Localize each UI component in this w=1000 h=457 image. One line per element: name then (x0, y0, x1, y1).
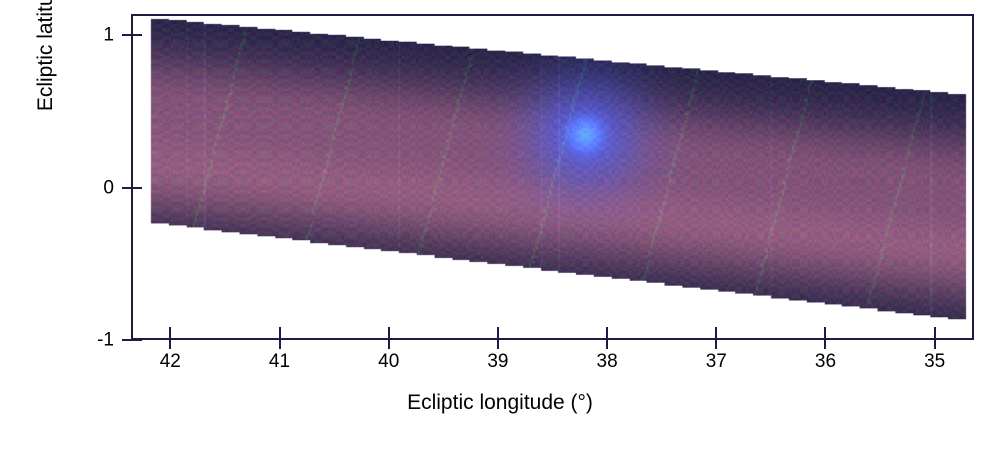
y-tick-label-1: 1 (103, 26, 114, 45)
x-tick-40 (388, 340, 390, 349)
x-axis-label: Ecliptic longitude (°) (0, 391, 1000, 415)
x-tick-36 (824, 340, 826, 349)
x-tick-37 (715, 340, 717, 349)
x-tick-40 (388, 327, 390, 338)
x-tick-42 (169, 327, 171, 338)
x-tick-38 (606, 340, 608, 349)
x-tick-38 (606, 327, 608, 338)
x-tick-35 (934, 340, 936, 349)
x-tick-label-37: 37 (706, 352, 727, 371)
plot-area (131, 14, 974, 340)
x-tick-label-42: 42 (160, 352, 181, 371)
x-tick-label-36: 36 (815, 352, 836, 371)
x-tick-39 (497, 340, 499, 349)
x-tick-36 (824, 327, 826, 338)
x-tick-41 (279, 340, 281, 349)
x-tick-37 (715, 327, 717, 338)
sky-map-figure: 4241403938373635 -101 Ecliptic longitude… (0, 0, 1000, 457)
x-tick-35 (934, 327, 936, 338)
y-tick-1 (122, 34, 131, 36)
y-tick-0 (131, 187, 142, 189)
x-tick-label-35: 35 (924, 352, 945, 371)
x-tick-label-41: 41 (269, 352, 290, 371)
x-tick-39 (497, 327, 499, 338)
y-tick-label--1: -1 (97, 331, 114, 350)
x-tick-41 (279, 327, 281, 338)
y-axis-label: Ecliptic latitude (°) (34, 0, 60, 190)
x-tick-42 (169, 340, 171, 349)
y-tick-label-0: 0 (103, 178, 114, 197)
y-tick-0 (122, 187, 131, 189)
y-tick--1 (122, 339, 131, 341)
x-tick-label-40: 40 (378, 352, 399, 371)
y-tick-1 (131, 34, 142, 36)
y-tick--1 (131, 339, 142, 341)
x-tick-label-38: 38 (597, 352, 618, 371)
x-tick-label-39: 39 (487, 352, 508, 371)
sky-image (133, 16, 972, 338)
